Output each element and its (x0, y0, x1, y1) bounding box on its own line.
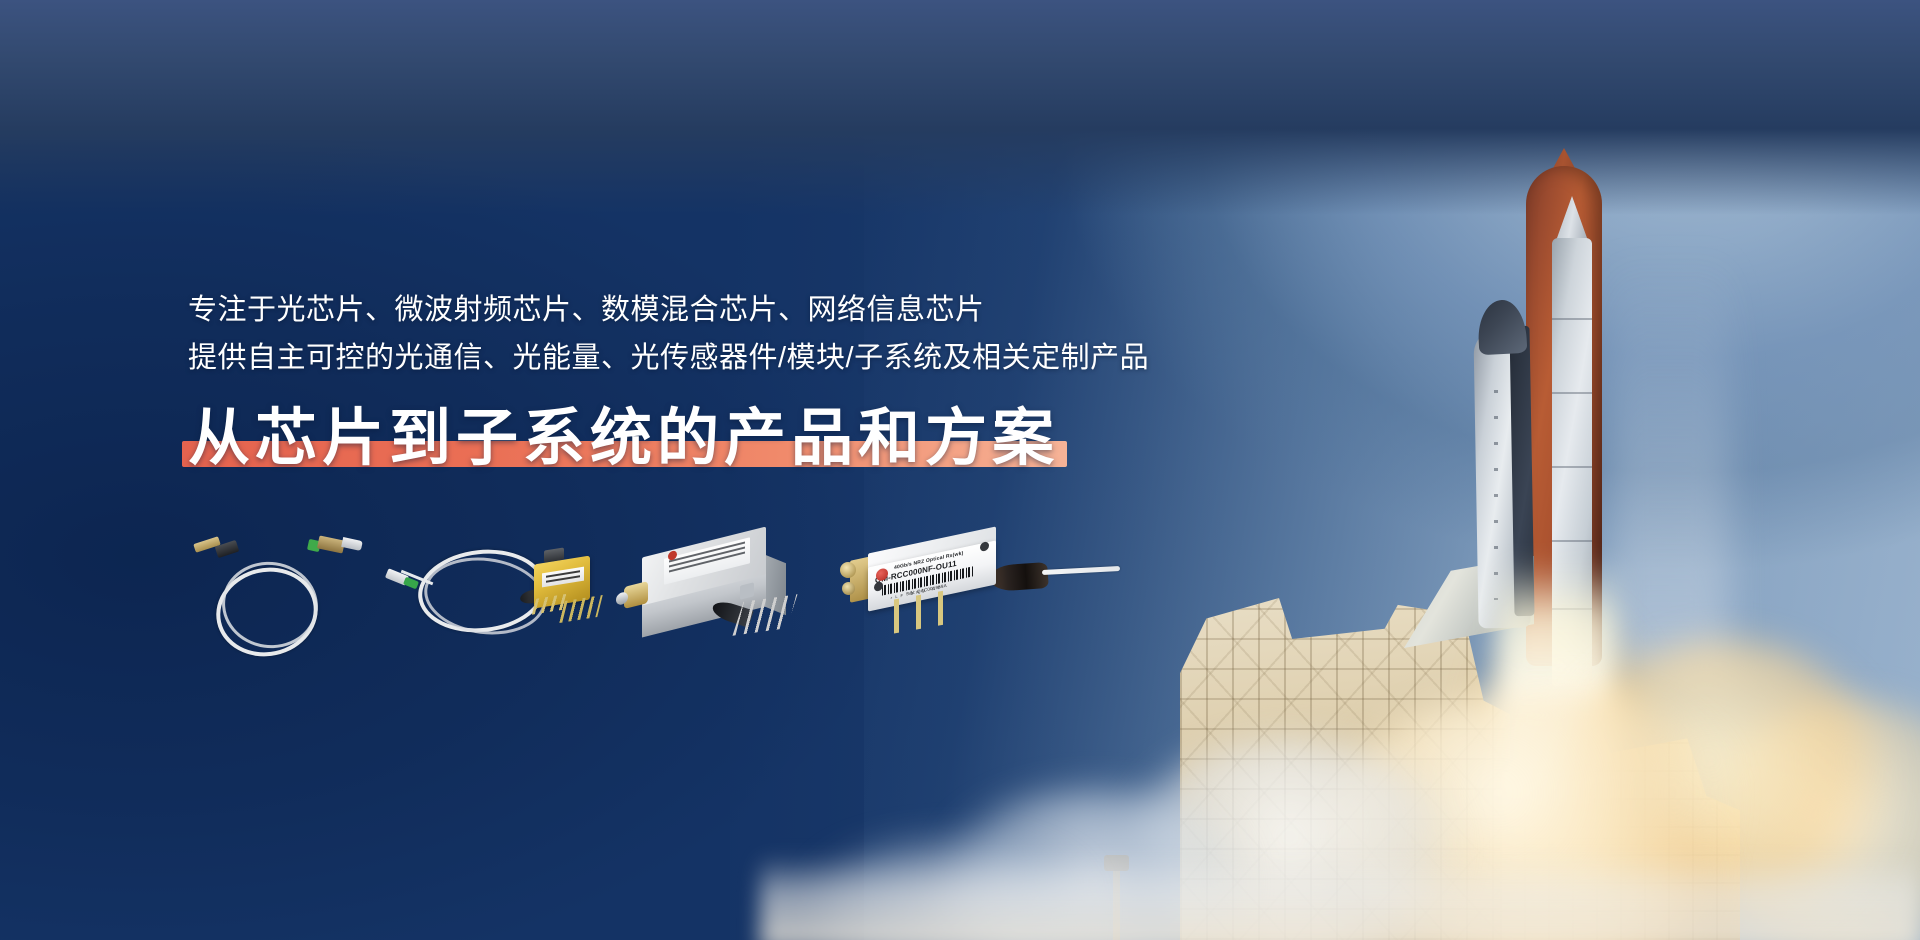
booster-segment-joint (1552, 318, 1592, 320)
banner-copy: 专注于光芯片、微波射频芯片、数模混合芯片、网络信息芯片 提供自主可控的光通信、光… (188, 288, 1308, 473)
banner-subtitle-line-2: 提供自主可控的光通信、光能量、光传感器件/模块/子系统及相关定制产品 (188, 336, 1308, 382)
product-butterfly-laser-diode (384, 546, 602, 664)
product-fiber-patch-cord (188, 534, 368, 664)
banner-headline-wrapper: 从芯片到子系统的产品和方案 (188, 406, 1059, 473)
booster-segment-joint (1552, 392, 1592, 394)
booster-segment-joint (1552, 540, 1592, 542)
smoke-ground-layer (760, 855, 1920, 940)
product-optical-receiver: 40Gb/s NRZ Optical Rx(wk) OM-RCC000NF-OU… (840, 536, 1120, 666)
orbiter-nose-cone (1477, 299, 1528, 355)
fiber-connector-cap (341, 537, 363, 551)
sma-connector (840, 562, 856, 578)
booster-segment-joint (1552, 466, 1592, 468)
product-rf-optical-module (620, 542, 800, 664)
sma-connector (842, 582, 855, 595)
hero-banner: 专注于光芯片、微波射频芯片、数模混合芯片、网络信息芯片 提供自主可控的光通信、光… (0, 0, 1920, 940)
optical-nose-cone (989, 562, 1049, 592)
banner-subtitle-line-1: 专注于光芯片、微波射频芯片、数模混合芯片、网络信息芯片 (188, 288, 1308, 334)
fiber-output-pigtail (1042, 566, 1120, 575)
banner-headline: 从芯片到子系统的产品和方案 (188, 406, 1059, 473)
